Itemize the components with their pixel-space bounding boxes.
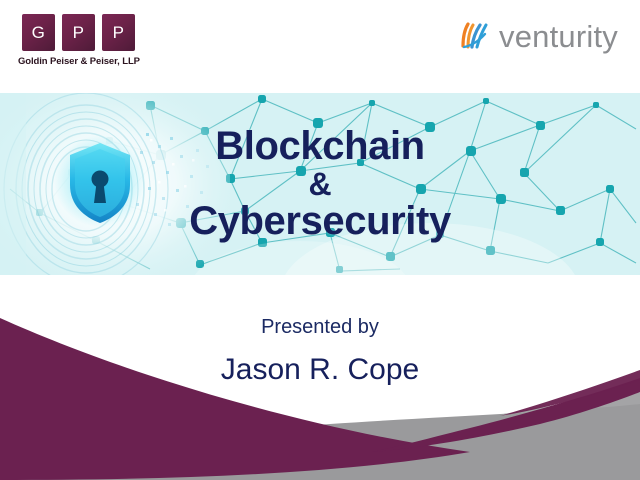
purple-ribbon	[372, 378, 640, 452]
gpp-square-p1: P	[62, 14, 95, 51]
presenter-name: Jason R. Cope	[0, 352, 640, 388]
presented-by-label: Presented by	[0, 315, 640, 339]
presentation-slide: Blockchain & Cybersecurity Presented by …	[0, 0, 640, 480]
slide-title: Blockchain & Cybersecurity	[0, 93, 640, 275]
title-line-1: Blockchain	[215, 126, 424, 167]
title-ampersand: &	[308, 168, 331, 200]
gray-swoosh	[0, 404, 640, 480]
gpp-tagline: Goldin Peiser & Peiser, LLP	[18, 56, 148, 67]
venturity-wordmark: venturity	[499, 21, 618, 52]
gpp-squares: G P P	[22, 14, 148, 51]
gpp-square-g: G	[22, 14, 55, 51]
gpp-logo: G P P Goldin Peiser & Peiser, LLP	[18, 14, 148, 67]
gpp-square-p2: P	[102, 14, 135, 51]
title-line-2: Cybersecurity	[189, 201, 451, 242]
presenter-block: Presented by Jason R. Cope	[0, 315, 640, 388]
venturity-mark-icon	[458, 20, 492, 52]
venturity-logo: venturity	[458, 20, 618, 52]
